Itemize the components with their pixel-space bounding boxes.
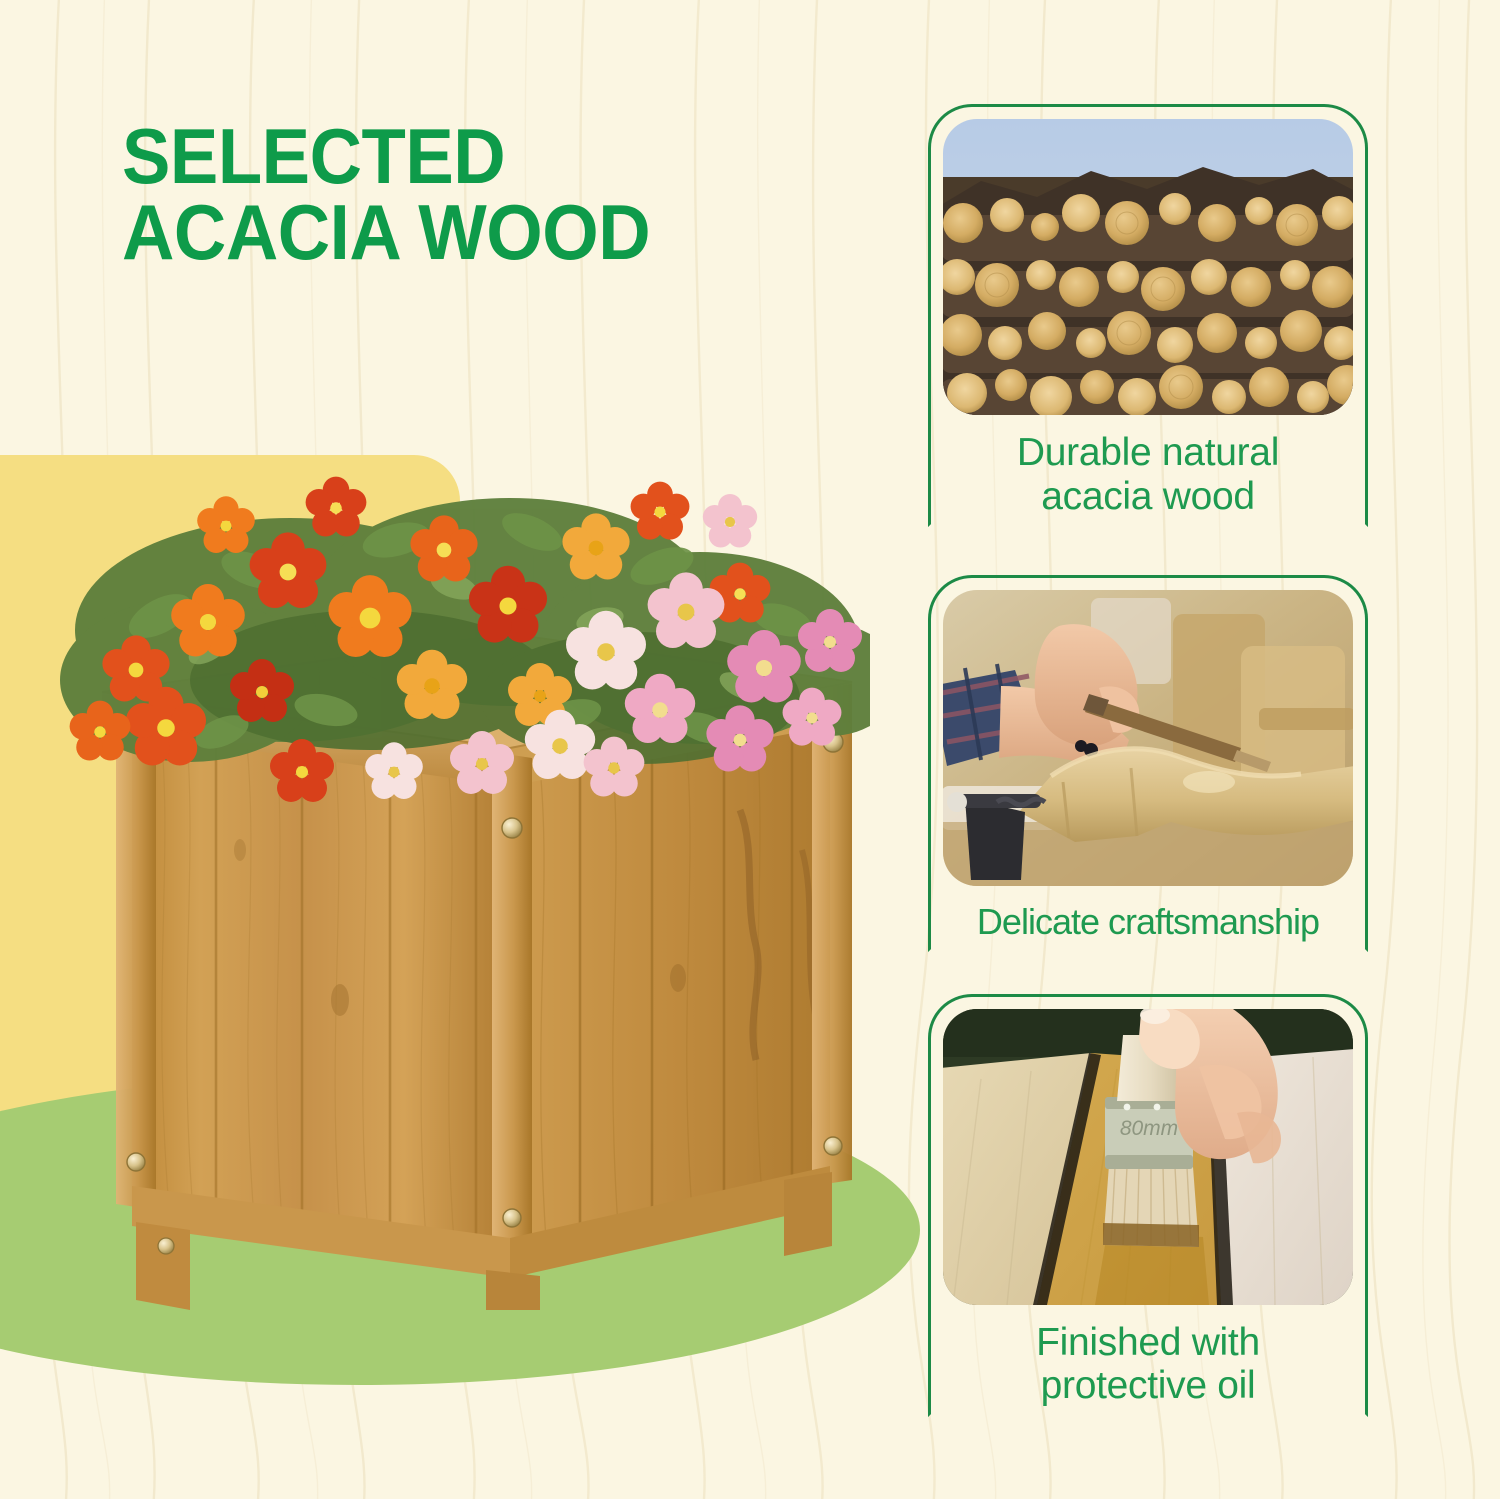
feature-list: Durable natural acacia wood [928, 104, 1368, 1417]
caption-line-2: protective oil [1041, 1364, 1256, 1407]
caption-line-1: Finished with [1036, 1321, 1260, 1364]
card-gap-2 [928, 952, 1368, 994]
hero-section: SELECTED ACACIA WOOD [0, 0, 900, 1499]
feature-caption-protective-oil: Finished with protective oil [943, 1321, 1353, 1414]
card-gap-1 [928, 527, 1368, 575]
page-title-line-2: ACACIA WOOD [122, 194, 650, 270]
feature-caption-craftsmanship: Delicate craftsmanship [943, 902, 1353, 948]
craftsman-shaping-wood-photo [943, 590, 1353, 886]
feature-card-craftsmanship[interactable]: Delicate craftsmanship [928, 575, 1368, 951]
feature-card-durable-wood[interactable]: Durable natural acacia wood [928, 104, 1368, 527]
oiling-deck-boards-photo: 80mm [943, 1009, 1353, 1305]
caption-line-1: Delicate craftsmanship [977, 901, 1319, 942]
feature-caption-durable-wood: Durable natural acacia wood [943, 431, 1353, 524]
product-image-planter-box [40, 380, 870, 1310]
caption-line-1: Durable natural [1017, 431, 1279, 474]
page-title-line-1: SELECTED [122, 112, 505, 200]
caption-line-2: acacia wood [1041, 475, 1255, 518]
feature-card-protective-oil[interactable]: 80mm Finished with protective oil [928, 994, 1368, 1417]
stacked-logs-photo [943, 119, 1353, 415]
flower-arrangement [60, 477, 870, 802]
page-title: SELECTED ACACIA WOOD [122, 118, 650, 271]
brush-size-label: 80mm [1120, 1117, 1178, 1140]
